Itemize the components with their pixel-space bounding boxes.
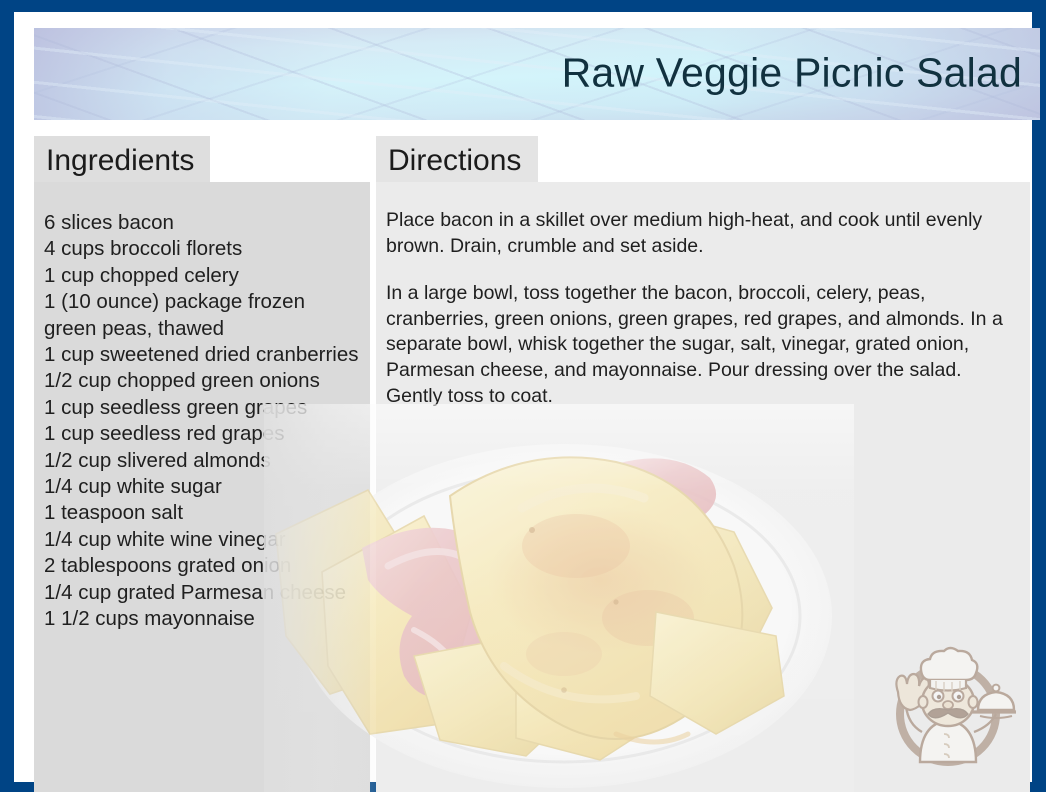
ingredients-heading: Ingredients [34,136,210,182]
ingredient-item: 1 1/2 cups mayonnaise [44,606,360,632]
ingredient-item: 1/4 cup grated Parmesan cheese [44,580,360,606]
chef-mascot-logo [880,640,1016,768]
ingredient-item: 1/2 cup chopped green onions [44,368,360,394]
ingredients-panel: 6 slices bacon4 cups broccoli florets1 c… [34,182,370,792]
ingredient-item: 1 cup seedless red grapes [44,421,360,447]
directions-heading: Directions [376,136,538,182]
card-inner-surface: Raw Veggie Picnic Salad Ingredients 6 sl… [14,12,1032,782]
ingredient-item: 4 cups broccoli florets [44,236,360,262]
direction-paragraph: In a large bowl, toss together the bacon… [386,281,1016,409]
ingredient-item: 2 tablespoons grated onion [44,553,360,579]
ingredients-section: Ingredients 6 slices bacon4 cups broccol… [34,136,370,792]
ingredient-item: 1 cup seedless green grapes [44,395,360,421]
ingredient-list: 6 slices bacon4 cups broccoli florets1 c… [44,210,360,633]
ingredient-item: 1 teaspoon salt [44,500,360,526]
ingredient-item: 1 (10 ounce) package frozen green peas, … [44,289,360,342]
direction-paragraph: Place bacon in a skillet over medium hig… [386,208,1016,259]
ingredient-item: 1 cup sweetened dried cranberries [44,342,360,368]
ingredient-item: 1/4 cup white wine vinegar [44,527,360,553]
page-title: Raw Veggie Picnic Salad [562,52,1022,95]
ingredient-item: 1/4 cup white sugar [44,474,360,500]
recipe-card: Raw Veggie Picnic Salad Ingredients 6 sl… [0,0,1046,792]
ingredient-item: 6 slices bacon [44,210,360,236]
ingredient-item: 1 cup chopped celery [44,263,360,289]
header-banner: Raw Veggie Picnic Salad [34,28,1040,120]
ingredient-item: 1/2 cup slivered almonds [44,448,360,474]
directions-body: Place bacon in a skillet over medium hig… [386,208,1016,409]
